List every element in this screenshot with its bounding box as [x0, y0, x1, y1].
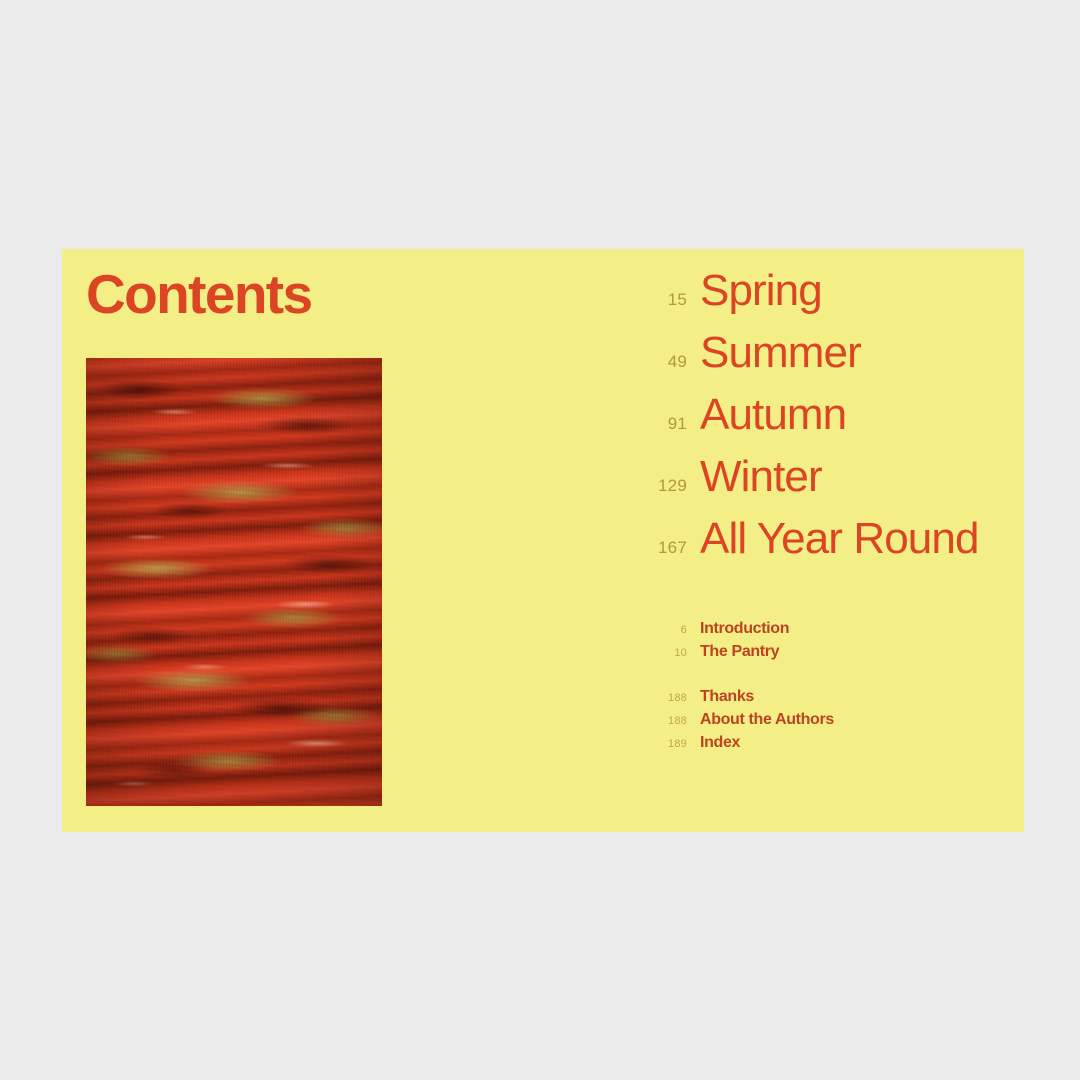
toc-entry-introduction[interactable]: 6 Introduction: [622, 621, 1002, 644]
page-number: 91: [622, 414, 687, 434]
toc-entry-spring[interactable]: 15 Spring: [622, 269, 1002, 331]
toc-entry-summer[interactable]: 49 Summer: [622, 331, 1002, 393]
contents-spread: Contents 15 Spring 49 Summer 91 Autumn: [62, 249, 1024, 832]
chapter-title: Summer: [700, 331, 861, 375]
toc-entry-thanks[interactable]: 188 Thanks: [622, 689, 1002, 712]
page-number: 167: [622, 538, 687, 558]
page-number: 6: [622, 624, 687, 636]
section-title: Index: [700, 735, 740, 751]
photo-vignette: [86, 358, 382, 806]
section-title: Introduction: [700, 621, 789, 637]
chapter-photo: [86, 358, 382, 806]
toc-entry-autumn[interactable]: 91 Autumn: [622, 393, 1002, 455]
page-number: 188: [622, 715, 687, 727]
section-title: The Pantry: [700, 644, 779, 660]
back-matter-list: 188 Thanks 188 About the Authors 189 Ind…: [622, 689, 1002, 758]
toc-entry-all-year-round[interactable]: 167 All Year Round: [622, 517, 1002, 579]
page-number: 188: [622, 692, 687, 704]
page-number: 129: [622, 476, 687, 496]
page-title: Contents: [86, 267, 312, 322]
chapter-title: Spring: [700, 269, 822, 313]
page-number: 15: [622, 290, 687, 310]
toc-entry-winter[interactable]: 129 Winter: [622, 455, 1002, 517]
toc-entry-about-the-authors[interactable]: 188 About the Authors: [622, 712, 1002, 735]
page-number: 189: [622, 738, 687, 750]
section-title: Thanks: [700, 689, 754, 705]
page-root: Contents 15 Spring 49 Summer 91 Autumn: [0, 0, 1080, 1080]
chapter-title: Winter: [700, 455, 822, 499]
page-number: 49: [622, 352, 687, 372]
page-number: 10: [622, 647, 687, 659]
chapter-title: Autumn: [700, 393, 846, 437]
table-of-contents: 15 Spring 49 Summer 91 Autumn 129 Winter…: [622, 269, 1002, 758]
chapter-list: 15 Spring 49 Summer 91 Autumn 129 Winter…: [622, 269, 1002, 579]
toc-entry-the-pantry[interactable]: 10 The Pantry: [622, 644, 1002, 667]
chapter-title: All Year Round: [700, 517, 979, 561]
section-title: About the Authors: [700, 712, 834, 728]
front-matter-list: 6 Introduction 10 The Pantry: [622, 621, 1002, 667]
toc-entry-index[interactable]: 189 Index: [622, 735, 1002, 758]
